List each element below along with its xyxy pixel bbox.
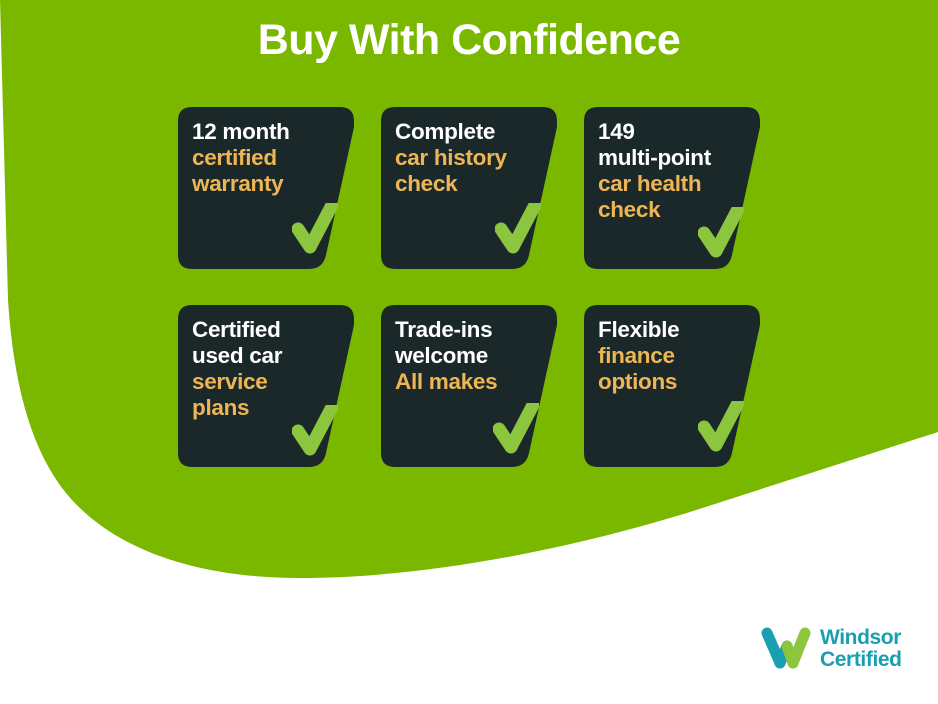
card-line: car health	[598, 171, 748, 197]
card-line: warranty	[192, 171, 342, 197]
benefit-card-12-month-certified-warranty[interactable]: 12 month certified warranty	[178, 107, 354, 269]
card-line: certified	[192, 145, 342, 171]
card-line: 12 month	[192, 119, 342, 145]
card-line: Flexible	[598, 317, 748, 343]
logo-wordmark: Windsor Certified	[820, 627, 902, 670]
checkmark-icon	[495, 203, 541, 257]
card-line: Trade-ins	[395, 317, 545, 343]
checkmark-icon	[292, 405, 338, 459]
checkmark-icon	[292, 203, 338, 257]
card-line: Certified	[192, 317, 342, 343]
benefit-card-complete-car-history-check[interactable]: Complete car history check	[381, 107, 557, 269]
card-line: All makes	[395, 369, 545, 395]
card-line: finance	[598, 343, 748, 369]
benefit-card-trade-ins-welcome-all-makes[interactable]: Trade-ins welcome All makes	[381, 305, 557, 467]
card-row-2: Certified used car service plans Trade-i…	[178, 305, 778, 467]
promo-banner: Buy With Confidence 12 month certified w…	[0, 0, 938, 704]
benefit-card-certified-used-car-service-plans[interactable]: Certified used car service plans	[178, 305, 354, 467]
card-text-block: 12 month certified warranty	[192, 119, 342, 197]
card-line: Complete	[395, 119, 545, 145]
windsor-certified-logo[interactable]: Windsor Certified	[760, 627, 902, 671]
benefit-card-flexible-finance-options[interactable]: Flexible finance options	[584, 305, 760, 467]
card-line: multi-point	[598, 145, 748, 171]
logo-line-1: Windsor	[820, 627, 902, 649]
checkmark-icon	[698, 401, 744, 455]
card-line: car history	[395, 145, 545, 171]
card-line: welcome	[395, 343, 545, 369]
page-title: Buy With Confidence	[0, 16, 938, 65]
card-text-block: Complete car history check	[395, 119, 545, 197]
benefit-card-149-multi-point-car-health-check[interactable]: 149 multi-point car health check	[584, 107, 760, 269]
checkmark-icon	[698, 207, 744, 261]
card-text-block: Flexible finance options	[598, 317, 748, 395]
logo-line-2: Certified	[820, 649, 902, 671]
card-line: service	[192, 369, 342, 395]
card-line: check	[395, 171, 545, 197]
card-line: used car	[192, 343, 342, 369]
benefit-card-grid: 12 month certified warranty Complete car…	[178, 107, 778, 503]
card-row-1: 12 month certified warranty Complete car…	[178, 107, 778, 269]
card-line: 149	[598, 119, 748, 145]
card-text-block: Trade-ins welcome All makes	[395, 317, 545, 395]
windsor-w-icon	[760, 627, 812, 671]
card-line: options	[598, 369, 748, 395]
checkmark-icon	[493, 403, 539, 457]
